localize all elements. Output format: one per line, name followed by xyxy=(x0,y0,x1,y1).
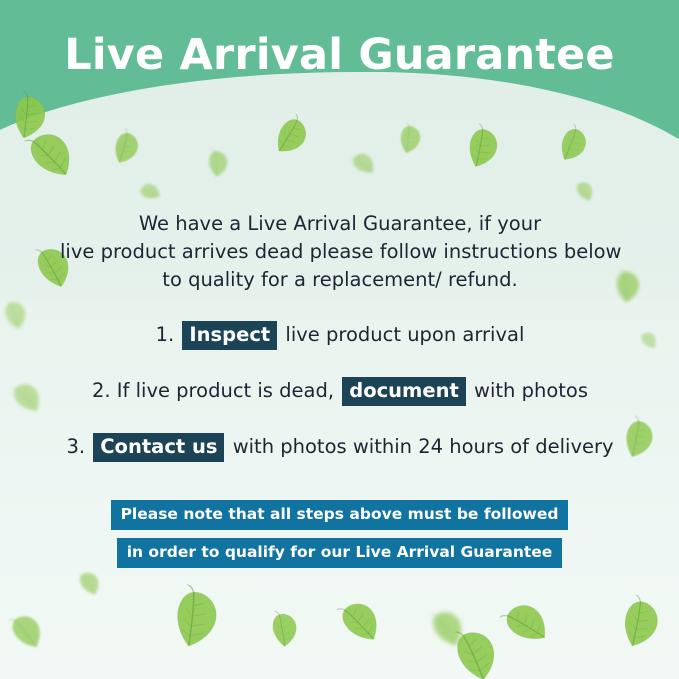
intro-paragraph: We have a Live Arrival Guarantee, if you… xyxy=(60,210,620,294)
step-before-2: If live product is dead, xyxy=(117,379,334,402)
intro-line-2: live product arrives dead please follow … xyxy=(60,238,620,266)
step-highlight-contact-us: Contact us xyxy=(93,433,224,462)
step-highlight-inspect: Inspect xyxy=(182,321,277,350)
step-after-3: with photos within 24 hours of delivery xyxy=(233,435,614,458)
note-line-1: Please note that all steps above must be… xyxy=(111,500,569,530)
live-arrival-guarantee-poster: Live Arrival Guarantee We have a Live Ar… xyxy=(0,0,679,679)
step-item-3: 3. Contact us with photos within 24 hour… xyxy=(40,432,640,462)
step-highlight-document: document xyxy=(342,377,466,406)
step-item-2: 2. If live product is dead, document wit… xyxy=(40,376,640,406)
step-after-1: live product upon arrival xyxy=(285,323,524,346)
step-number-1: 1. xyxy=(156,323,175,346)
step-after-2: with photos xyxy=(474,379,588,402)
steps-list: 1. Inspect live product upon arrival 2. … xyxy=(40,320,640,488)
step-item-1: 1. Inspect live product upon arrival xyxy=(40,320,640,350)
note-banner: Please note that all steps above must be… xyxy=(0,500,679,568)
note-line-2: in order to qualify for our Live Arrival… xyxy=(117,538,563,568)
intro-line-3: to quality for a replacement/ refund. xyxy=(60,266,620,294)
poster-content: We have a Live Arrival Guarantee, if you… xyxy=(0,0,679,679)
step-number-3: 3. xyxy=(66,435,85,458)
intro-line-1: We have a Live Arrival Guarantee, if you… xyxy=(60,210,620,238)
step-number-2: 2. xyxy=(92,379,111,402)
